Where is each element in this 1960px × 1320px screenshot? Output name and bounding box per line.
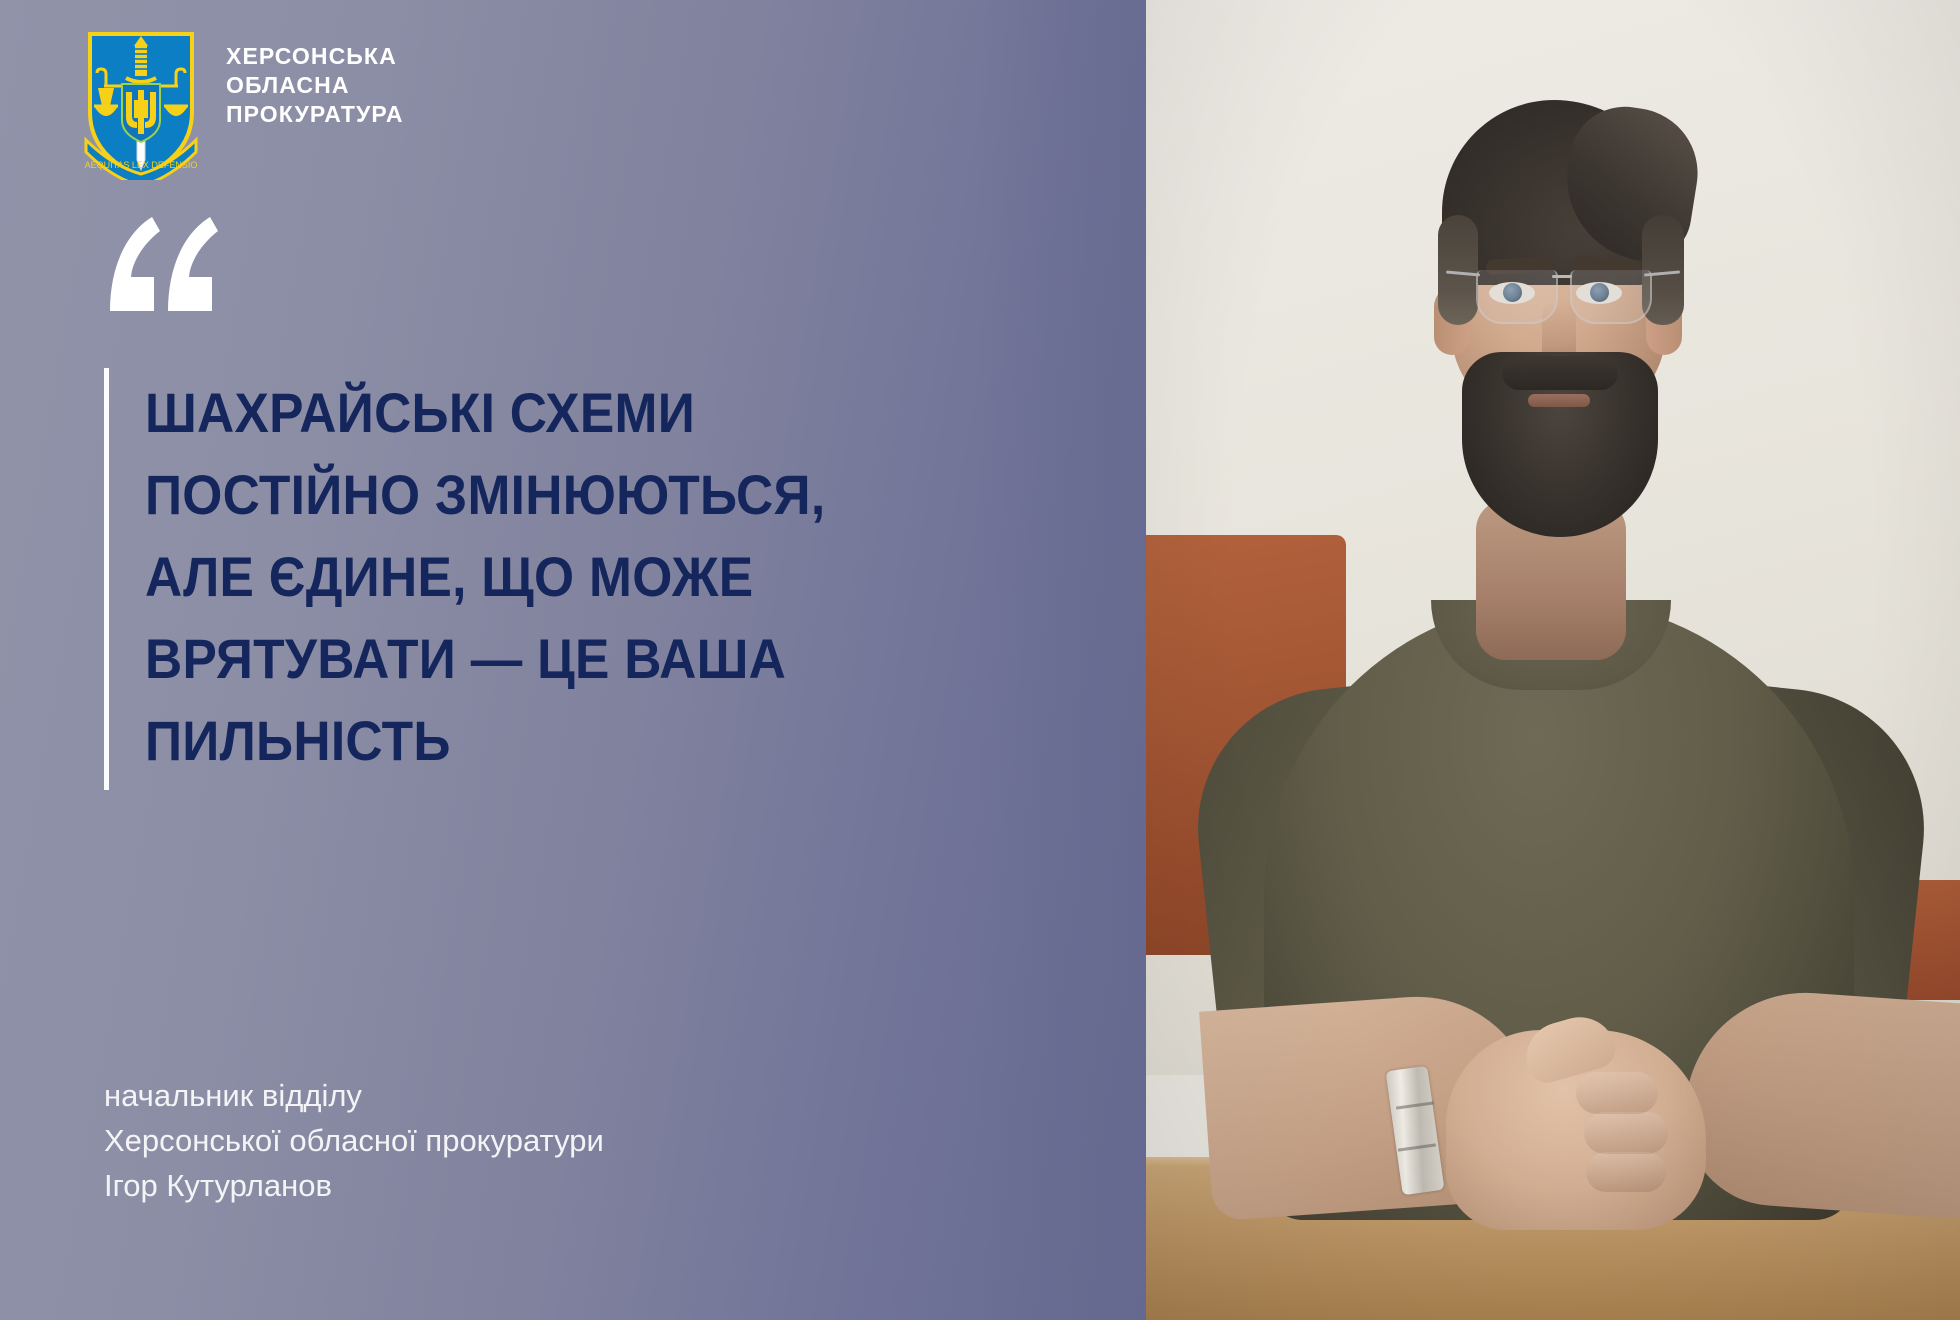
attribution-person-name: Ігор Кутурланов	[104, 1163, 604, 1208]
org-name-line-3: ПРОКУРАТУРА	[226, 100, 404, 129]
accent-rule	[104, 368, 109, 790]
subject-photo	[1146, 0, 1960, 1320]
quote-line-4: ВРЯТУВАТИ — ЦЕ ВАША	[145, 618, 825, 700]
attribution-role: начальник відділу	[104, 1073, 604, 1118]
org-name-line-1: ХЕРСОНСЬКА	[226, 42, 404, 71]
quote-heading: ШАХРАЙСЬКІ СХЕМИ ПОСТІЙНО ЗМІНЮЮТЬСЯ, АЛ…	[104, 368, 864, 790]
org-name-line-2: ОБЛАСНА	[226, 71, 404, 100]
left-text-panel: AEQUITAS LEX DEFENSIO ХЕРСОНСЬКА ОБЛАСНА…	[0, 0, 1146, 1320]
photo-vignette	[1146, 0, 1960, 1320]
emblem-ribbon-text: AEQUITAS LEX DEFENSIO	[85, 160, 198, 170]
quote-line-3: АЛЕ ЄДИНЕ, ЩО МОЖЕ	[145, 536, 825, 618]
quote-card: AEQUITAS LEX DEFENSIO ХЕРСОНСЬКА ОБЛАСНА…	[0, 0, 1960, 1320]
organization-name: ХЕРСОНСЬКА ОБЛАСНА ПРОКУРАТУРА	[226, 42, 404, 129]
quote-line-1: ШАХРАЙСЬКІ СХЕМИ	[145, 372, 825, 454]
attribution: начальник відділу Херсонської обласної п…	[104, 1073, 604, 1208]
prosecutor-office-coat-of-arms-icon: AEQUITAS LEX DEFENSIO	[82, 28, 200, 180]
quote-line-2: ПОСТІЙНО ЗМІНЮЮТЬСЯ,	[145, 454, 825, 536]
attribution-organization: Херсонської обласної прокуратури	[104, 1118, 604, 1163]
organization-logo: AEQUITAS LEX DEFENSIO ХЕРСОНСЬКА ОБЛАСНА…	[82, 28, 404, 180]
quotation-mark-icon	[104, 215, 224, 315]
quote-line-5: ПИЛЬНІСТЬ	[145, 700, 825, 782]
